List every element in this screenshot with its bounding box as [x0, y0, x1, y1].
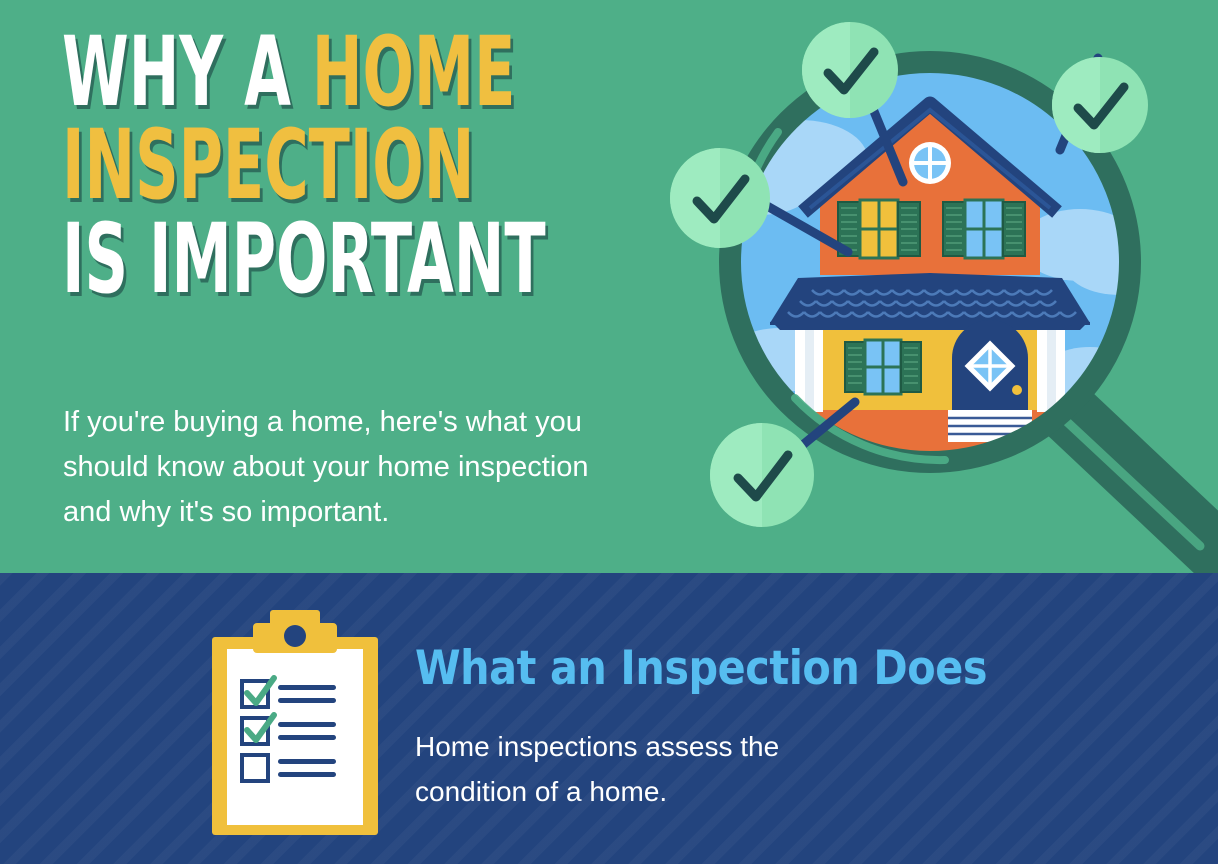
- headline-line-1: WHY A HOME: [62, 28, 538, 117]
- panel-body-line-1: Home inspections assess the: [415, 725, 779, 770]
- what-inspection-does-section: [0, 573, 1218, 864]
- headline-line-2: INSPECTION: [62, 121, 538, 210]
- upper-window-right: [943, 200, 1025, 258]
- front-door: [952, 320, 1028, 410]
- check-badge-bottom-left: [710, 423, 814, 527]
- panel-body: Home inspections assess the condition of…: [415, 725, 779, 815]
- lower-window: [845, 340, 921, 394]
- check-badge-top-left: [802, 22, 898, 118]
- hero-section: WHY A HOME INSPECTION IS IMPORTANT If yo…: [0, 0, 1218, 573]
- panel-heading: What an Inspection Does: [415, 641, 987, 696]
- check-badge-mid-left: [670, 148, 770, 248]
- page-title: WHY A HOME INSPECTION IS IMPORTANT: [62, 28, 742, 308]
- hero-subtitle-line-3: and why it's so important.: [63, 490, 683, 535]
- door-knob: [1012, 385, 1022, 395]
- panel-body-line-2: condition of a home.: [415, 770, 779, 815]
- hero-subtitle-line-1: If you're buying a home, here's what you: [63, 400, 683, 445]
- attic-round-window: [909, 142, 951, 184]
- headline-line-3: IS IMPORTANT: [62, 215, 538, 304]
- check-badge-top-right: [1052, 57, 1148, 153]
- magnifier-handle: [1050, 395, 1218, 555]
- clipboard-clip-hole: [284, 625, 306, 647]
- infographic-canvas: WHY A HOME INSPECTION IS IMPORTANT If yo…: [0, 0, 1218, 864]
- clipboard-checklist-icon: [205, 605, 385, 840]
- magnifying-glass-illustration: [660, 0, 1218, 590]
- headline-part-is-important: IS IMPORTANT: [62, 203, 546, 315]
- hero-subtitle: If you're buying a home, here's what you…: [63, 400, 683, 535]
- hero-subtitle-line-2: should know about your home inspection: [63, 445, 683, 490]
